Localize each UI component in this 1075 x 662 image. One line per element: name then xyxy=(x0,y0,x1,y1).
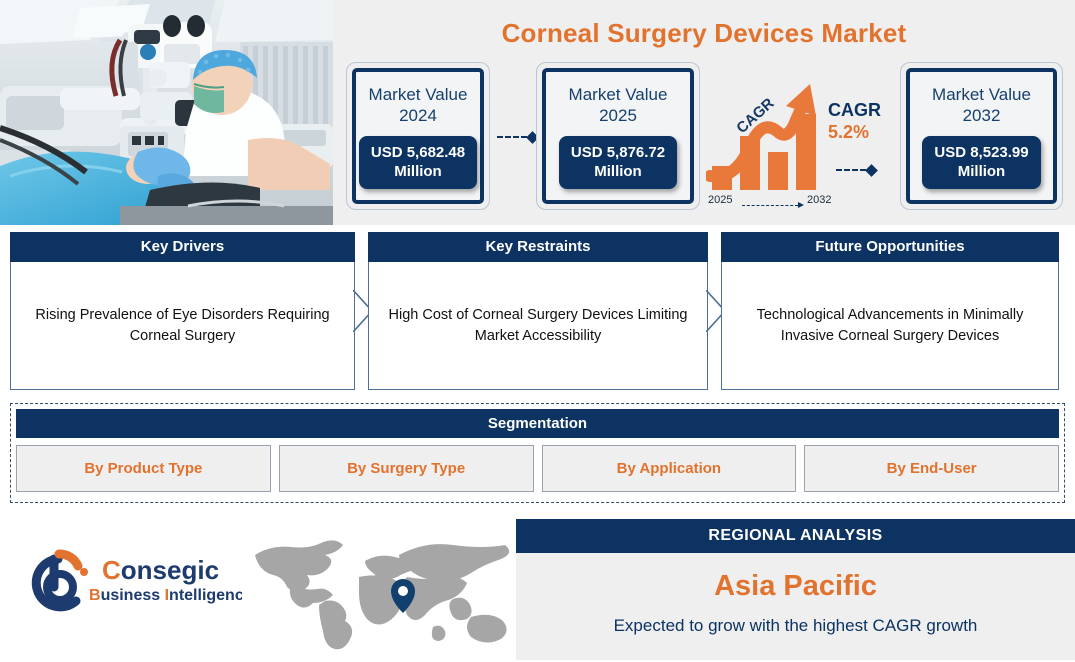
panel-body-key-drivers: Rising Prevalence of Eye Disorders Requi… xyxy=(25,305,340,347)
cagr-text: CAGR 5.2% xyxy=(828,100,881,143)
regional-analysis-note: Expected to grow with the highest CAGR g… xyxy=(516,616,1075,636)
header-band: Corneal Surgery Devices Market Market Va… xyxy=(0,0,1075,225)
cagr-start-year: 2025 xyxy=(708,194,732,206)
market-value-label-2024: Market Value 2024 xyxy=(369,84,468,126)
connector-cagr-2032 xyxy=(836,164,876,176)
logo-name-rest: onsegic xyxy=(121,555,219,585)
regional-analysis-heading: REGIONAL ANALYSIS xyxy=(516,519,1075,553)
surgery-photo xyxy=(0,0,333,225)
panel-body-key-restraints: High Cost of Corneal Surgery Devices Lim… xyxy=(383,305,693,347)
segment-by-surgery-type[interactable]: By Surgery Type xyxy=(279,445,534,492)
market-value-card-2024: Market Value 2024 USD 5,682.48 Million xyxy=(346,62,490,210)
cagr-year-arrow-icon xyxy=(742,201,804,209)
svg-text:Business Intelligence: Business Intelligence xyxy=(89,587,242,604)
page-title: Corneal Surgery Devices Market xyxy=(333,12,1075,54)
segment-by-product-type[interactable]: By Product Type xyxy=(16,445,271,492)
panel-heading-key-drivers: Key Drivers xyxy=(10,232,355,262)
infographic-page: Corneal Surgery Devices Market Market Va… xyxy=(0,0,1075,660)
segmentation-items: By Product Type By Surgery Type By Appli… xyxy=(16,445,1059,492)
logo-name-first: C xyxy=(102,555,121,585)
market-value-label-2032: Market Value 2032 xyxy=(932,84,1031,126)
panel-future-opportunities: Future Opportunities Technological Advan… xyxy=(721,232,1059,390)
cagr-end-year: 2032 xyxy=(807,194,831,206)
segmentation-section: Segmentation By Product Type By Surgery … xyxy=(10,403,1065,503)
cagr-graphic: CAGR CAGR 5.2% 2025 2032 xyxy=(706,78,902,210)
market-value-card-2025: Market Value 2025 USD 5,876.72 Million xyxy=(536,62,700,210)
market-value-badge-2024: USD 5,682.48 Million xyxy=(359,136,477,189)
connector-2024-2025 xyxy=(497,131,537,143)
cagr-title: CAGR xyxy=(828,100,881,121)
panel-key-drivers: Key Drivers Rising Prevalence of Eye Dis… xyxy=(10,232,355,390)
cagr-value: 5.2% xyxy=(828,121,881,143)
segment-by-end-user[interactable]: By End-User xyxy=(804,445,1059,492)
panel-heading-key-restraints: Key Restraints xyxy=(368,232,708,262)
panel-key-restraints: Key Restraints High Cost of Corneal Surg… xyxy=(368,232,708,390)
panel-heading-future-opportunities: Future Opportunities xyxy=(721,232,1059,262)
segment-by-application[interactable]: By Application xyxy=(542,445,797,492)
logo-dot xyxy=(80,568,88,576)
segmentation-heading: Segmentation xyxy=(16,409,1059,438)
market-value-badge-2032: USD 8,523.99 Million xyxy=(922,136,1040,189)
svg-text:Consegic: Consegic xyxy=(102,555,219,585)
regional-analysis-section: REGIONAL ANALYSIS Asia Pacific Expected … xyxy=(516,519,1075,660)
diamond-marker xyxy=(865,164,878,177)
market-value-card-2032: Market Value 2032 USD 8,523.99 Million xyxy=(900,62,1063,210)
regional-analysis-region: Asia Pacific xyxy=(516,570,1075,603)
consegic-logo: Consegic Business Intelligence xyxy=(14,545,242,615)
world-map xyxy=(247,533,515,657)
panel-body-future-opportunities: Technological Advancements in Minimally … xyxy=(736,305,1044,347)
market-value-label-2025: Market Value 2025 xyxy=(569,84,668,126)
market-value-badge-2025: USD 5,876.72 Million xyxy=(559,136,677,189)
